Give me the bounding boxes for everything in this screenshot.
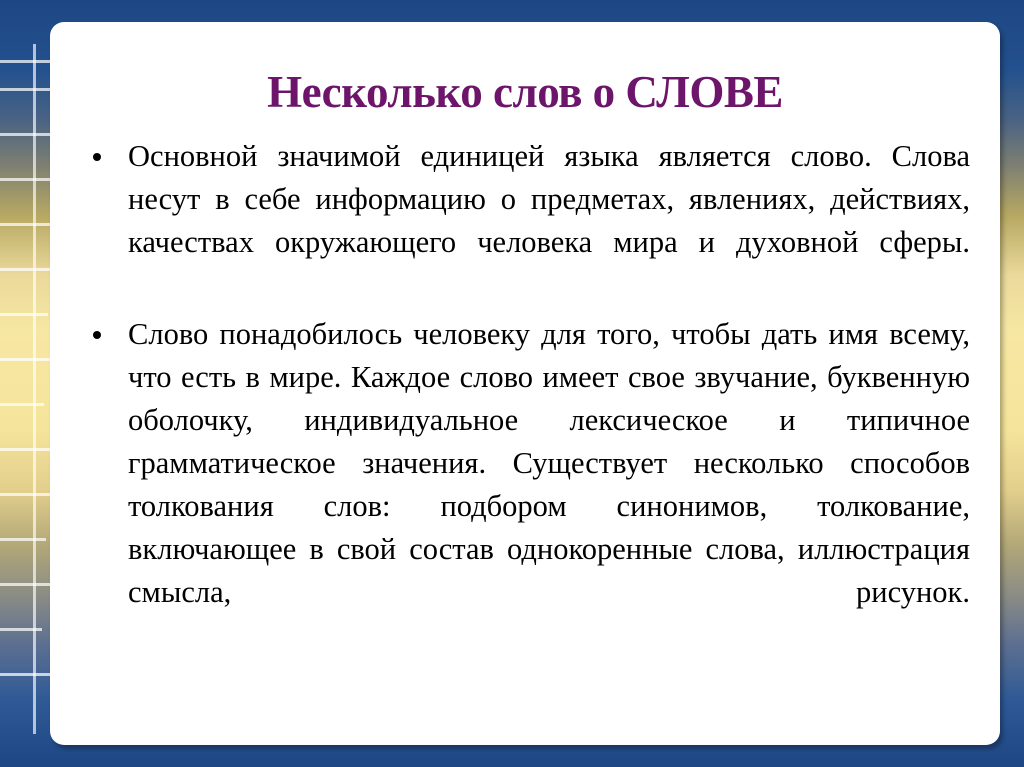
- bullet-dot-icon: [93, 331, 101, 339]
- bullet-text: Основной значимой единицей языка являетс…: [128, 139, 970, 259]
- deco-horizontal-line: [0, 60, 52, 63]
- deco-horizontal-line: [0, 538, 46, 541]
- slide-bullet-list: Основной значимой единицей языка являетс…: [80, 135, 970, 663]
- bullet-list-item: Основной значимой единицей языка являетс…: [80, 135, 970, 307]
- slide-content-card: Несколько слов о СЛОВЕ Основной значимой…: [50, 22, 1000, 745]
- deco-vertical-line: [33, 44, 36, 734]
- deco-horizontal-line: [0, 628, 42, 631]
- slide-title: Несколько слов о СЛОВЕ: [50, 67, 1000, 117]
- presentation-slide: Несколько слов о СЛОВЕ Основной значимой…: [0, 0, 1024, 767]
- deco-horizontal-line: [0, 673, 56, 676]
- deco-horizontal-line: [0, 178, 56, 181]
- bullet-list-item: Слово понадобилось человеку для того, чт…: [80, 313, 970, 657]
- deco-horizontal-line: [0, 403, 44, 406]
- bullet-dot-icon: [93, 153, 101, 161]
- deco-horizontal-line: [0, 313, 48, 316]
- bullet-text: Слово понадобилось человеку для того, чт…: [128, 317, 970, 609]
